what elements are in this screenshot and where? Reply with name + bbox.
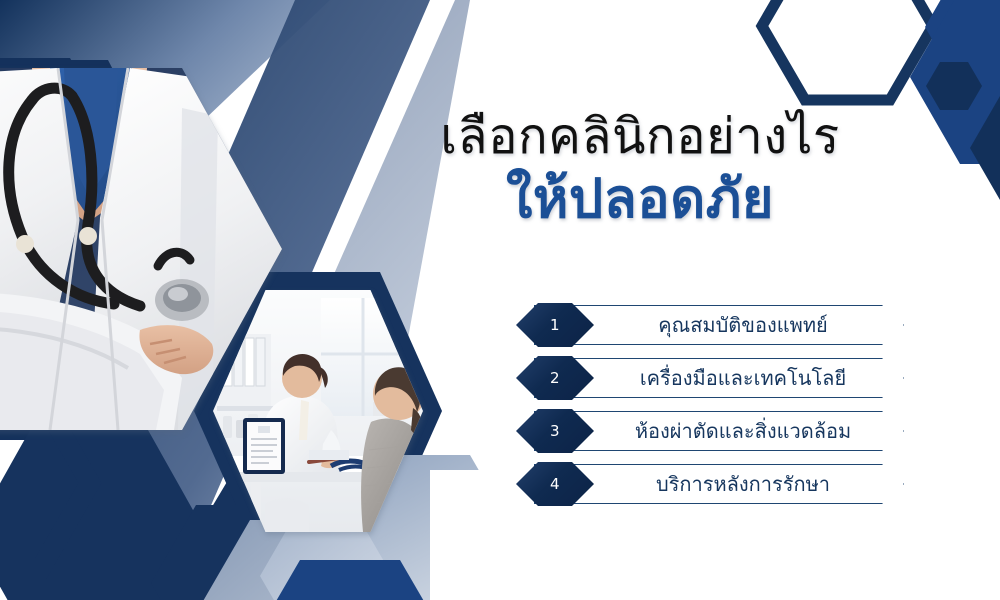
list-item[interactable]: คุณสมบัติของแพทย์ 1	[516, 305, 904, 345]
headline: เลือกคลินิกอย่างไร ให้ปลอดภัย	[390, 112, 890, 227]
headline-line-1: เลือกคลินิกอย่างไร	[390, 112, 890, 163]
list-item-label: คุณสมบัติของแพทย์	[612, 305, 874, 345]
headline-line-2: ให้ปลอดภัย	[390, 171, 890, 227]
list-item[interactable]: เครื่องมือและเทคโนโลยี 2	[516, 358, 904, 398]
list-item[interactable]: บริการหลังการรักษา 4	[516, 464, 904, 504]
checklist: คุณสมบัติของแพทย์ 1 เครื่องมือและเทคโนโล…	[516, 305, 904, 517]
poster-canvas: เลือกคลินิกอย่างไร ให้ปลอดภัย คุณสมบัติข…	[0, 0, 1000, 600]
list-item[interactable]: ห้องผ่าตัดและสิ่งแวดล้อม 3	[516, 411, 904, 451]
consultation-illustration	[213, 290, 423, 532]
list-item-label: ห้องผ่าตัดและสิ่งแวดล้อม	[612, 411, 874, 451]
list-item-label: เครื่องมือและเทคโนโลยี	[612, 358, 874, 398]
photo-doctor-patient-consultation	[213, 290, 423, 532]
list-item-label: บริการหลังการรักษา	[612, 464, 874, 504]
